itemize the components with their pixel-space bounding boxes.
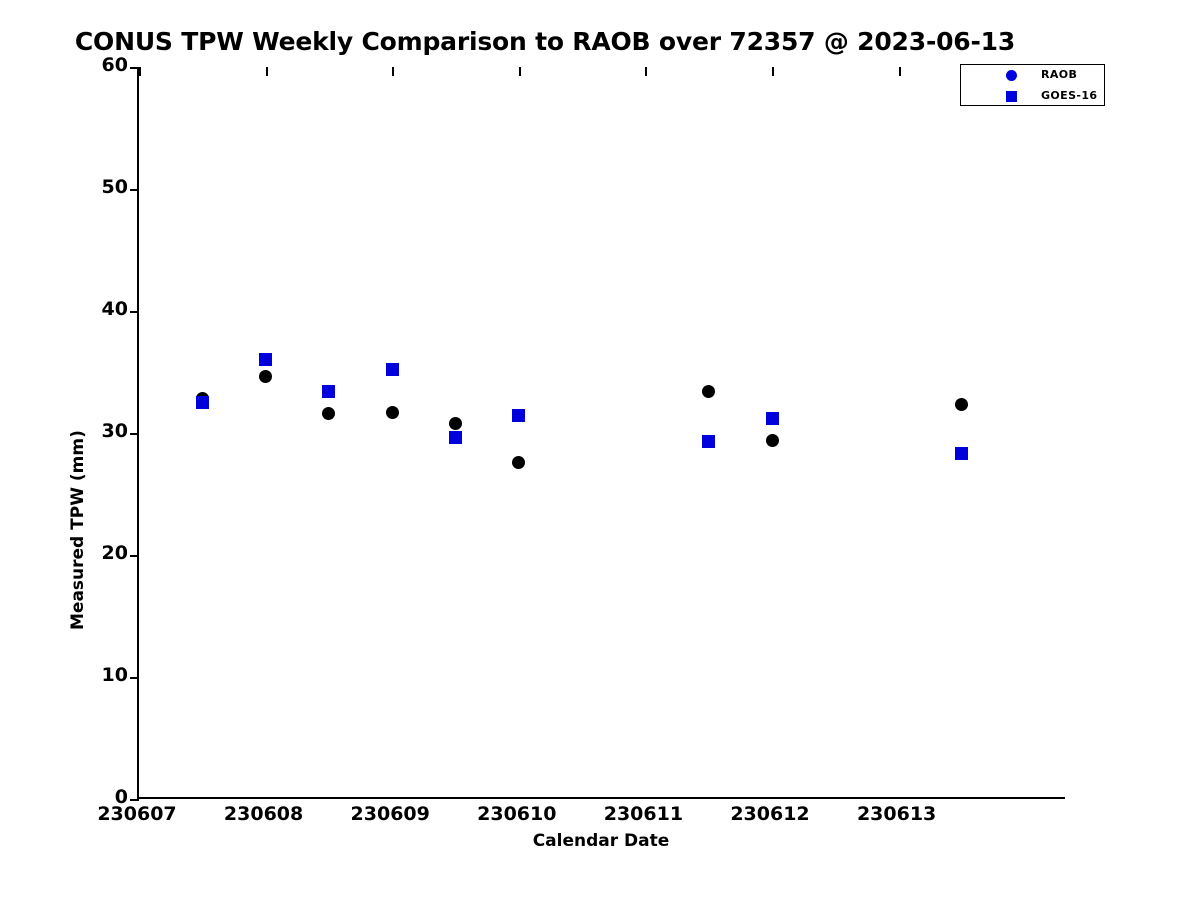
data-point-raob — [386, 406, 399, 419]
y-axis-tick-label: 40 — [58, 298, 128, 320]
y-axis-tick-label: 10 — [58, 664, 128, 686]
x-axis-tick — [899, 67, 901, 76]
data-point-goes-16 — [386, 363, 399, 376]
data-point-goes-16 — [512, 409, 525, 422]
data-point-raob — [766, 434, 779, 447]
legend-circle-marker-icon — [1006, 70, 1017, 81]
plot-area — [137, 67, 1065, 799]
chart-title: CONUS TPW Weekly Comparison to RAOB over… — [0, 27, 1090, 56]
data-point-goes-16 — [196, 396, 209, 409]
x-axis-tick — [266, 67, 268, 76]
y-axis-label: Measured TPW (mm) — [68, 430, 88, 630]
x-axis-tick — [139, 67, 141, 76]
data-point-goes-16 — [766, 412, 779, 425]
x-axis-label: Calendar Date — [137, 831, 1065, 851]
data-point-raob — [322, 407, 335, 420]
y-axis-tick — [130, 311, 139, 313]
data-point-raob — [702, 385, 715, 398]
y-axis-tick — [130, 677, 139, 679]
data-point-goes-16 — [955, 447, 968, 460]
y-axis-tick — [130, 555, 139, 557]
y-axis-tick — [130, 67, 139, 69]
x-axis-tick-label: 230612 — [700, 803, 840, 825]
legend-label-raob: RAOB — [1041, 68, 1077, 81]
y-axis-tick — [130, 799, 139, 801]
legend-entry-raob: RAOB — [961, 65, 1106, 86]
data-point-raob — [512, 456, 525, 469]
data-point-goes-16 — [259, 353, 272, 366]
y-axis-tick-label: 60 — [58, 54, 128, 76]
y-axis-tick — [130, 433, 139, 435]
x-axis-tick — [772, 67, 774, 76]
data-point-raob — [259, 370, 272, 383]
x-axis-tick-label: 230609 — [320, 803, 460, 825]
y-axis-tick-label: 50 — [58, 176, 128, 198]
x-axis-tick — [392, 67, 394, 76]
x-axis-tick-label: 230613 — [827, 803, 967, 825]
y-axis-tick-label: 20 — [58, 542, 128, 564]
data-point-goes-16 — [449, 431, 462, 444]
y-axis-tick-label: 30 — [58, 420, 128, 442]
chart-legend: RAOB GOES-16 — [960, 64, 1105, 106]
data-point-raob — [955, 398, 968, 411]
x-axis-tick-label: 230607 — [67, 803, 207, 825]
data-point-raob — [449, 417, 462, 430]
legend-square-marker-icon — [1006, 91, 1017, 102]
x-axis-tick-label: 230610 — [447, 803, 587, 825]
data-point-goes-16 — [702, 435, 715, 448]
legend-entry-goes16: GOES-16 — [961, 86, 1106, 107]
data-point-goes-16 — [322, 385, 335, 398]
x-axis-tick — [645, 67, 647, 76]
x-axis-tick — [519, 67, 521, 76]
legend-label-goes16: GOES-16 — [1041, 89, 1098, 102]
chart-figure: CONUS TPW Weekly Comparison to RAOB over… — [0, 0, 1200, 900]
x-axis-tick-label: 230611 — [573, 803, 713, 825]
x-axis-tick-label: 230608 — [194, 803, 334, 825]
y-axis-tick — [130, 189, 139, 191]
